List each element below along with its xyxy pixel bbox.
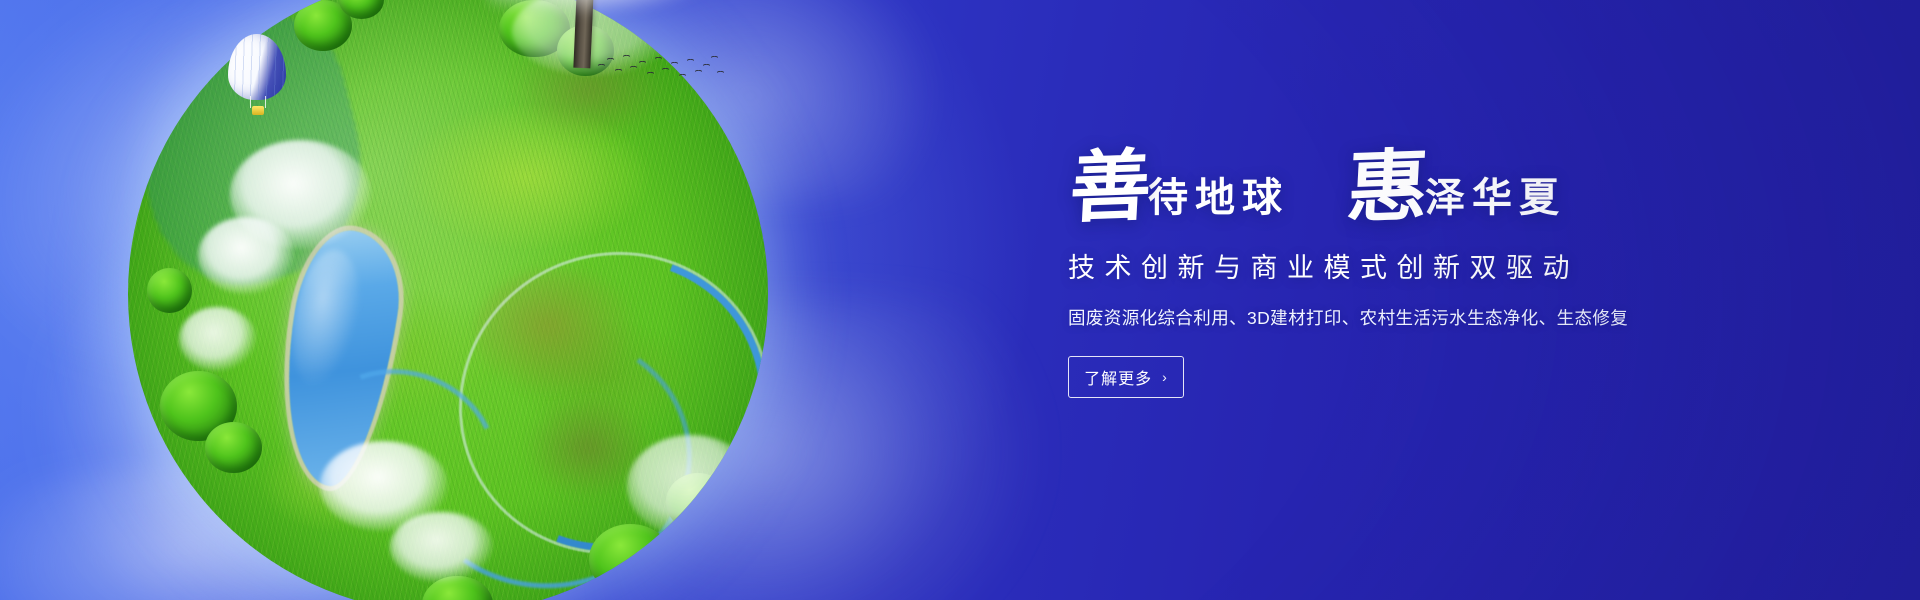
bird-icon	[703, 64, 709, 68]
chevron-right-icon: ›	[1162, 369, 1168, 385]
tree-canopy	[205, 422, 263, 473]
mist-overlay	[488, 0, 708, 14]
hero-copy: 善 待地球 惠 泽华夏 技术创新与商业模式创新双驱动 固废资源化综合利用、3D建…	[1068, 140, 1688, 398]
headline-accent-char-2: 惠	[1345, 151, 1430, 224]
cloud-puff-icon	[320, 441, 448, 531]
bird-icon	[671, 62, 677, 66]
bird-icon	[679, 74, 685, 78]
tree-canopy	[339, 0, 384, 19]
hot-air-balloon-icon	[228, 34, 286, 118]
bird-icon	[607, 58, 613, 62]
learn-more-label: 了解更多	[1084, 365, 1152, 389]
bird-icon	[623, 55, 629, 59]
tree-canopy	[160, 371, 237, 441]
bird-icon	[695, 70, 701, 74]
soil-patch	[474, 268, 640, 396]
soil-patch	[525, 396, 653, 498]
bird-icon	[655, 57, 661, 61]
globe-illustration	[128, 0, 768, 600]
bird-icon	[717, 71, 723, 75]
river-branch	[283, 341, 523, 567]
bird-icon	[639, 61, 645, 65]
bird-icon	[647, 72, 653, 76]
cloud-puff-icon	[198, 217, 294, 294]
balloon-basket	[252, 106, 264, 115]
balloon-envelope	[228, 34, 286, 100]
cloud-puff-icon	[179, 307, 256, 371]
bird-icon	[630, 66, 636, 70]
page-title: 善 待地球 惠 泽华夏	[1068, 140, 1688, 224]
lake	[269, 224, 410, 493]
lake-highlight	[284, 245, 369, 394]
tree-canopy	[294, 0, 352, 51]
hero-description: 固废资源化综合利用、3D建材打印、农村生活污水生态净化、生态修复	[1068, 305, 1688, 330]
headline-accent-char-1: 善	[1068, 151, 1153, 224]
bird-icon	[662, 68, 668, 72]
headline-rest-2: 泽华夏	[1425, 178, 1566, 224]
headline-rest-1: 待地球	[1148, 178, 1289, 224]
tree-canopy	[422, 576, 492, 600]
bird-icon	[711, 56, 717, 60]
tree-canopy	[147, 268, 192, 313]
hero-banner: 善 待地球 惠 泽华夏 技术创新与商业模式创新双驱动 固废资源化综合利用、3D建…	[0, 0, 1920, 600]
bird-flock-icon	[596, 50, 726, 90]
learn-more-button[interactable]: 了解更多 ›	[1068, 356, 1184, 398]
hero-subtitle: 技术创新与商业模式创新双驱动	[1068, 246, 1688, 285]
cloud-puff-icon	[230, 140, 371, 249]
bird-icon	[598, 64, 604, 68]
bird-icon	[687, 59, 693, 63]
cloud-puff-icon	[390, 512, 492, 582]
bird-icon	[615, 69, 621, 73]
